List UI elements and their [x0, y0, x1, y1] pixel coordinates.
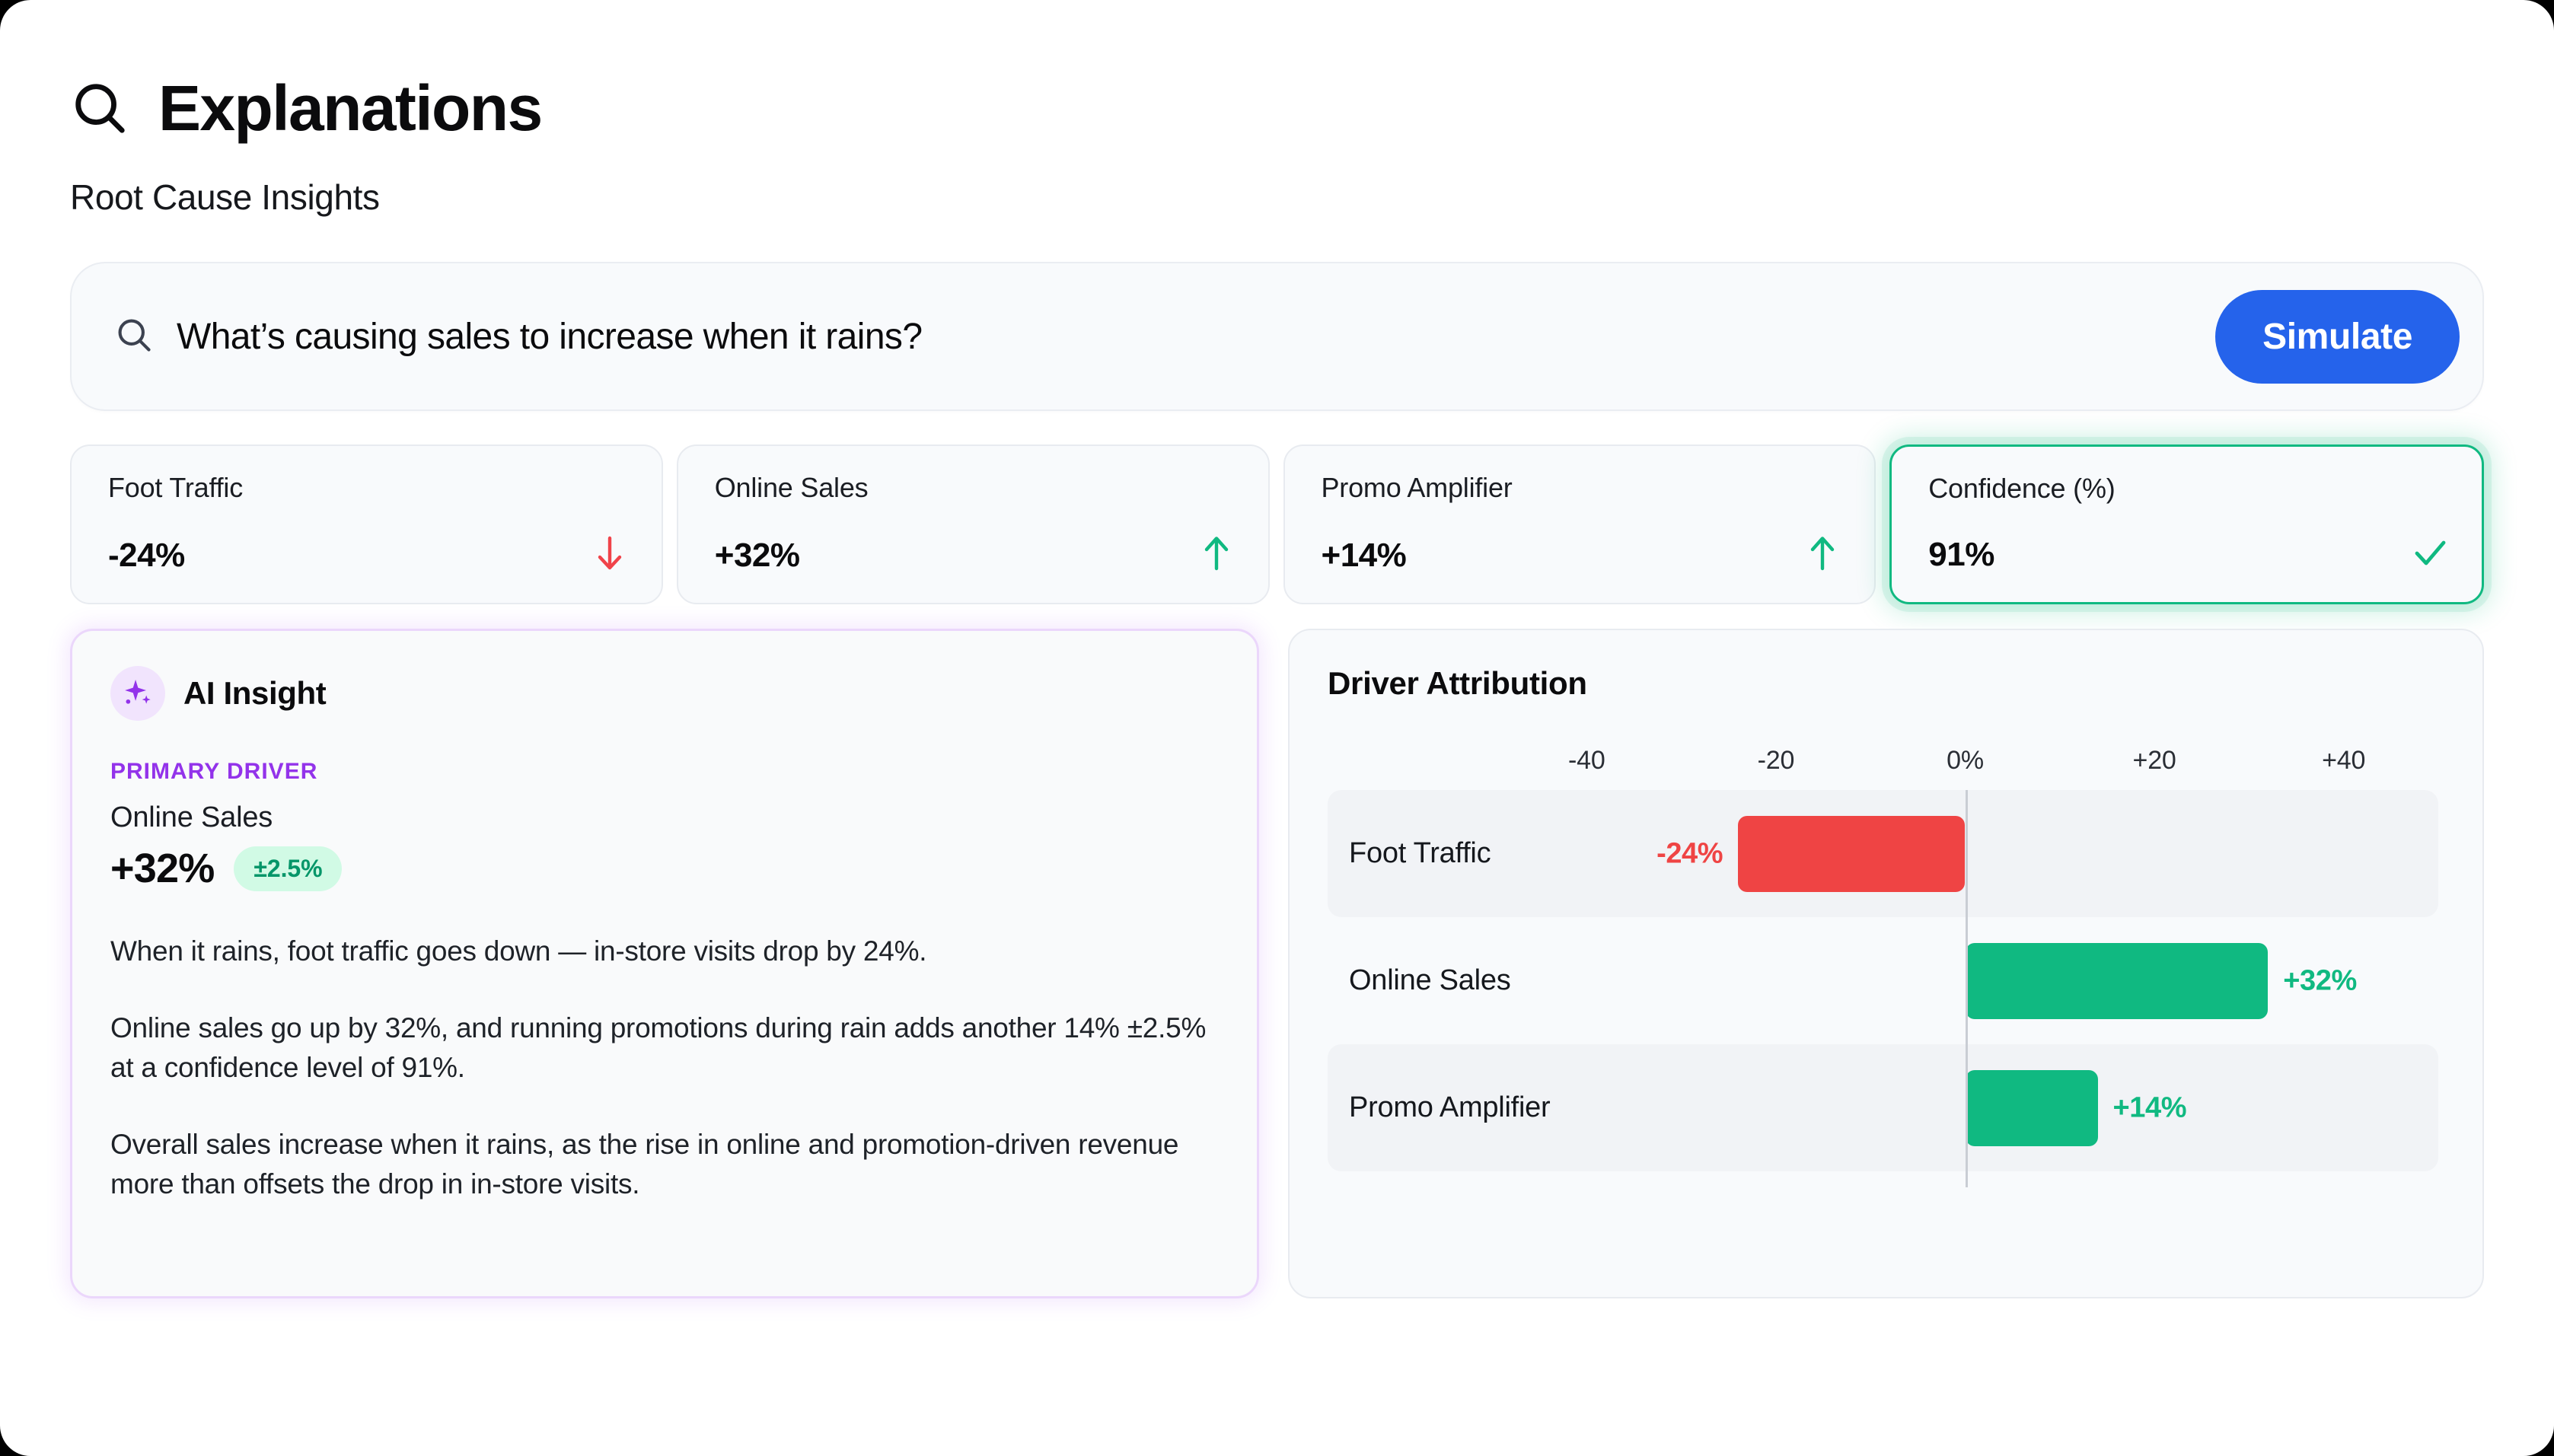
kpi-value: +32% [715, 537, 800, 575]
axis-tick-label: +40 [2322, 746, 2365, 776]
kpi-label: Online Sales [715, 472, 1235, 504]
ai-insight-header: AI Insight [110, 666, 1219, 721]
axis-tick-label: -20 [1758, 746, 1795, 776]
primary-driver-name: Online Sales [110, 801, 1219, 834]
page-header: Explanations [0, 0, 2554, 140]
kpi-label: Confidence (%) [1928, 473, 2448, 505]
kpi-value: -24% [108, 537, 185, 575]
kpi-card-foot-traffic[interactable]: Foot Traffic -24% [70, 444, 663, 604]
chart-bar-value: -24% [1656, 837, 1723, 870]
chart-bar[interactable] [1738, 816, 1965, 892]
primary-driver-label: PRIMARY DRIVER [110, 759, 1219, 785]
chart-row[interactable]: Online Sales+32% [1328, 917, 2438, 1044]
chart-bar[interactable] [1966, 1070, 2098, 1146]
primary-driver-value-row: +32% ±2.5% [110, 845, 1219, 892]
insight-paragraph: Online sales go up by 32%, and running p… [110, 1008, 1219, 1088]
chart-row-label: Promo Amplifier [1349, 1091, 1550, 1124]
page-title: Explanations [158, 76, 542, 140]
insight-paragraph: When it rains, foot traffic goes down — … [110, 932, 1219, 972]
kpi-label: Promo Amplifier [1322, 472, 1841, 504]
insight-paragraph: Overall sales increase when it rains, as… [110, 1125, 1219, 1205]
chart-bar[interactable] [1966, 943, 2269, 1019]
chart-title: Driver Attribution [1328, 665, 2444, 702]
chart-bar-value: +14% [2113, 1091, 2187, 1124]
lower-section: AI Insight PRIMARY DRIVER Online Sales +… [70, 629, 2484, 1298]
app-page: Explanations Root Cause Insights What’s … [0, 0, 2554, 1456]
sparkle-icon [110, 666, 165, 721]
search-icon [70, 78, 129, 138]
simulate-button[interactable]: Simulate [2215, 290, 2460, 384]
kpi-value-row: 91% [1928, 533, 2448, 576]
kpi-card-promo-amplifier[interactable]: Promo Amplifier +14% [1283, 444, 1876, 604]
check-icon [2412, 533, 2448, 576]
arrow-down-icon [591, 534, 628, 577]
chart-bar-value: +32% [2283, 964, 2357, 997]
kpi-value-row: -24% [108, 534, 628, 577]
chart-x-axis: -40-200%+20+40 [1492, 746, 2438, 789]
kpi-card-confidence[interactable]: Confidence (%) 91% [1889, 444, 2484, 604]
kpi-value-row: +32% [715, 534, 1235, 577]
chart-rows: Foot Traffic-24%Online Sales+32%Promo Am… [1328, 790, 2438, 1187]
arrow-up-icon [1804, 534, 1841, 577]
ai-insight-card: AI Insight PRIMARY DRIVER Online Sales +… [70, 629, 1259, 1298]
chart-row[interactable]: Promo Amplifier+14% [1328, 1044, 2438, 1171]
arrow-up-icon [1198, 534, 1235, 577]
chart-row-label: Online Sales [1349, 964, 1510, 997]
chart-zero-line [1966, 790, 1968, 1187]
axis-tick-label: +20 [2133, 746, 2176, 776]
kpi-card-row: Foot Traffic -24% Online Sales +32% [70, 444, 2484, 604]
kpi-label: Foot Traffic [108, 472, 628, 504]
kpi-value: 91% [1928, 536, 1994, 574]
search-bar[interactable]: What’s causing sales to increase when it… [70, 262, 2484, 411]
page-subtitle: Root Cause Insights [0, 140, 2554, 218]
kpi-card-online-sales[interactable]: Online Sales +32% [677, 444, 1270, 604]
ai-insight-title: AI Insight [183, 675, 326, 712]
kpi-value-row: +14% [1322, 534, 1841, 577]
axis-tick-label: -40 [1568, 746, 1605, 776]
search-icon [114, 315, 154, 358]
kpi-value: +14% [1322, 537, 1407, 575]
search-input[interactable]: What’s causing sales to increase when it… [154, 316, 2215, 358]
chart-row[interactable]: Foot Traffic-24% [1328, 790, 2438, 917]
margin-of-error-badge: ±2.5% [234, 846, 342, 891]
axis-tick-label: 0% [1947, 746, 1984, 776]
driver-attribution-card: Driver Attribution -40-200%+20+40 Foot T… [1288, 629, 2484, 1298]
chart-row-label: Foot Traffic [1349, 837, 1491, 870]
primary-driver-value: +32% [110, 845, 214, 892]
driver-attribution-chart: -40-200%+20+40 Foot Traffic-24%Online Sa… [1328, 746, 2444, 1187]
